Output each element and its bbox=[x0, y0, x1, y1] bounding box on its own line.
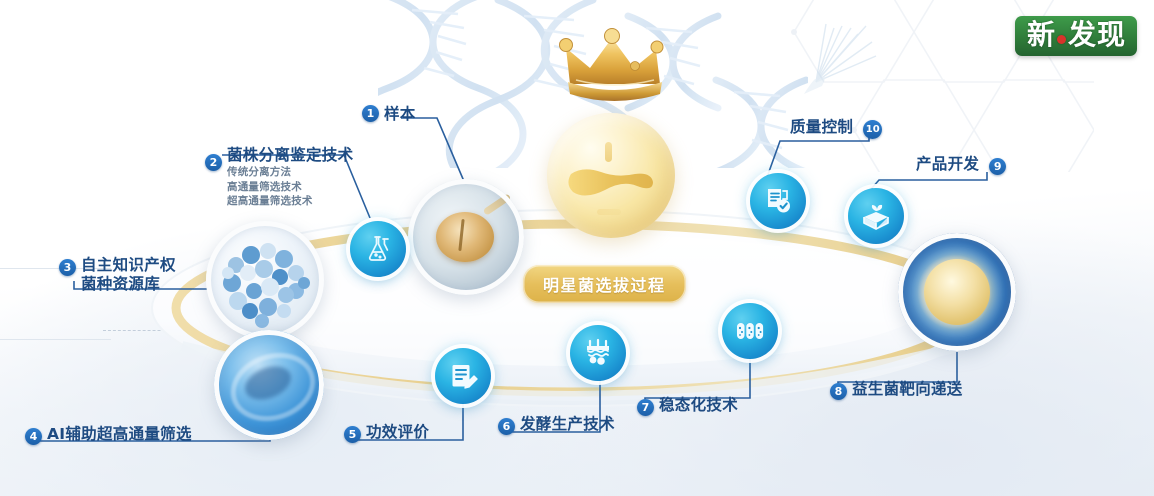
step-label-4[interactable]: 4 AI辅助超高通量筛选 bbox=[25, 425, 192, 445]
step-label-6[interactable]: 6 发酵生产技术 bbox=[498, 415, 615, 435]
bacterium-shape-icon bbox=[563, 168, 659, 202]
sphere-shadow bbox=[597, 209, 621, 215]
dish-rim bbox=[214, 330, 324, 440]
logo-char-3: 现 bbox=[1097, 21, 1125, 49]
step-title-3-line-2: 菌种资源库 bbox=[81, 275, 176, 294]
step-title-5: 功效评价 bbox=[366, 423, 429, 442]
step-number-10: 10 bbox=[863, 120, 882, 139]
step-number-8: 8 bbox=[830, 383, 847, 400]
golden-bacteria-sphere bbox=[547, 113, 675, 238]
step-number-5: 5 bbox=[344, 426, 361, 443]
step-label-8[interactable]: 8 益生菌靶向递送 bbox=[830, 380, 963, 400]
flask-icon[interactable] bbox=[350, 221, 406, 277]
step-label-7[interactable]: 7 稳态化技术 bbox=[637, 396, 738, 416]
petri-dish-sample-photo bbox=[408, 179, 524, 295]
step-title-1: 样本 bbox=[384, 105, 416, 124]
sphere-highlight bbox=[605, 142, 612, 162]
probiotic-capsule-photo bbox=[898, 233, 1016, 351]
step-title-9: 产品开发 bbox=[916, 155, 979, 174]
step-label-5[interactable]: 5 功效评价 bbox=[344, 423, 429, 443]
step-number-4: 4 bbox=[25, 428, 42, 445]
step-title-10: 质量控制 bbox=[790, 118, 853, 137]
step-sub-2-line-3: 超高通量筛选技术 bbox=[227, 194, 353, 208]
neuron-burst-icon bbox=[796, 12, 886, 102]
step-title-7: 稳态化技术 bbox=[659, 396, 738, 415]
open-box-icon[interactable] bbox=[848, 188, 904, 244]
step-number-6: 6 bbox=[498, 418, 515, 435]
logo-char-1: 新 bbox=[1027, 21, 1055, 49]
logo-dot-icon bbox=[1057, 35, 1066, 44]
dish-rim bbox=[408, 179, 524, 295]
step-number-3: 3 bbox=[59, 259, 76, 276]
fermentation-tank-icon[interactable] bbox=[570, 325, 626, 381]
step-sub-2-line-2: 高通量筛选技术 bbox=[227, 180, 353, 194]
step-label-9[interactable]: 9 产品开发 bbox=[916, 155, 1006, 175]
dish-rim bbox=[898, 233, 1016, 351]
brand-logo[interactable]: 新 发 现 bbox=[1006, 8, 1146, 64]
blue-gel-photo bbox=[214, 330, 324, 440]
step-title-3-line-1: 自主知识产权 bbox=[81, 256, 176, 275]
document-pen-icon[interactable] bbox=[435, 348, 491, 404]
step-title-2: 菌株分离鉴定技术 bbox=[227, 146, 353, 165]
capsules-icon[interactable] bbox=[722, 303, 778, 359]
step-number-1: 1 bbox=[362, 105, 379, 122]
step-title-8: 益生菌靶向递送 bbox=[852, 380, 963, 399]
step-sub-2-line-1: 传统分离方法 bbox=[227, 165, 353, 179]
step-number-2: 2 bbox=[205, 154, 222, 171]
step-number-7: 7 bbox=[637, 399, 654, 416]
strain-colony-photo bbox=[206, 221, 324, 339]
step-number-9: 9 bbox=[989, 158, 1006, 175]
step-title-6: 发酵生产技术 bbox=[520, 415, 615, 434]
step-label-1[interactable]: 1 样本 bbox=[362, 105, 416, 124]
dish-rim bbox=[206, 221, 324, 339]
logo-char-2: 发 bbox=[1068, 21, 1096, 49]
logo-badge: 新 发 现 bbox=[1015, 16, 1137, 56]
step-label-2[interactable]: 2 菌株分离鉴定技术 传统分离方法 高通量筛选技术 超高通量筛选技术 bbox=[205, 146, 353, 208]
step-label-10[interactable]: 10 质量控制 bbox=[790, 118, 882, 139]
checklist-check-icon[interactable] bbox=[750, 173, 806, 229]
step-label-3[interactable]: 3 自主知识产权 菌种资源库 bbox=[59, 256, 176, 295]
infographic-canvas: 明星菌选拔过程 bbox=[0, 0, 1154, 496]
step-title-4: AI辅助超高通量筛选 bbox=[47, 425, 192, 444]
center-badge: 明星菌选拔过程 bbox=[523, 265, 686, 303]
golden-crown-icon bbox=[556, 28, 676, 104]
